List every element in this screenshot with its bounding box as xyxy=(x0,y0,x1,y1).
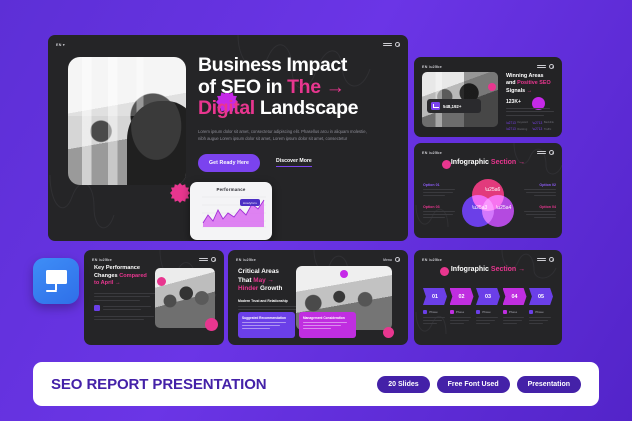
search-icon-winning[interactable] xyxy=(549,64,554,69)
step-info: Phase xyxy=(476,310,500,324)
check-icon: \u2713 xyxy=(533,121,543,125)
step-ribbon[interactable]: 04 xyxy=(503,288,527,305)
language-selector-winning[interactable]: EN \u25be xyxy=(422,65,442,69)
kpi-title: Key Performance Changes Compared to Apri… xyxy=(94,265,160,288)
grid-icon: \u25a6 xyxy=(485,187,500,193)
search-icon-venn[interactable] xyxy=(549,150,554,155)
hero-title: Business Impact of SEO in The → Digital … xyxy=(198,55,394,120)
steps-arrow-icon: → xyxy=(518,266,525,273)
step-ribbons: 01 02 03 04 05 xyxy=(423,288,553,305)
language-selector-kpi[interactable]: EN \u25be xyxy=(92,258,112,262)
critical-cards: Suggested Recommendation Management Cons… xyxy=(238,312,356,338)
step-info: Phase xyxy=(450,310,474,324)
language-selector-venn[interactable]: EN \u25be xyxy=(422,151,442,155)
winning-title: Winning Areas and Positive SEO Signals → xyxy=(506,73,556,95)
stat-value: 548,192+ xyxy=(443,104,461,109)
step-descriptions: Phase Phase Phase Phase Phase xyxy=(423,310,553,324)
hero-topbar: EN ▾ xyxy=(56,40,400,49)
check-icon: \u2713 xyxy=(506,127,516,131)
venn-arrow-icon: → xyxy=(518,159,525,166)
winning-arrow-icon: → xyxy=(527,88,532,94)
badge-type: Presentation xyxy=(517,376,581,393)
presentation-app-icon xyxy=(33,258,79,304)
magenta-dot-critical xyxy=(340,270,348,278)
steps-topbar: EN \u25be xyxy=(422,255,554,264)
kpi-bullet-row xyxy=(94,305,160,311)
pink-dot-steps xyxy=(440,267,449,276)
steps-title: Infographic Section → xyxy=(451,266,525,273)
hamburger-menu-icon-winning[interactable] xyxy=(537,65,546,68)
critical-card-2[interactable]: Management Consideration xyxy=(299,312,356,338)
kpi-slide[interactable]: EN \u25be Key Performance Changes Compar… xyxy=(84,250,224,345)
performance-card-title: Performance xyxy=(196,187,266,192)
venn-diagram: \u25a6 \u25a3 \u25a4 xyxy=(462,179,514,227)
badge-slides: 20 Slides xyxy=(377,376,429,393)
footer-bar: SEO REPORT PRESENTATION 20 Slides Free F… xyxy=(33,362,599,406)
check-item: \u2713Keyword xyxy=(506,121,530,125)
performance-card-pill: Analytics xyxy=(240,199,260,206)
step-ribbon[interactable]: 03 xyxy=(476,288,500,305)
check-item: \u2713Backlink xyxy=(533,121,557,125)
winning-checklist: \u2713Keyword \u2713Backlink \u2713Ranki… xyxy=(506,121,556,132)
critical-subtitle: Modern Trust and Relationship xyxy=(238,299,288,303)
pink-dot-critical xyxy=(383,327,394,338)
language-selector-critical[interactable]: EN \u25be xyxy=(236,258,256,262)
performance-card: Performance Analytics xyxy=(190,182,272,240)
winning-areas-slide[interactable]: EN \u25be 548,192+ Winning Areas and Pos… xyxy=(414,57,562,137)
check-icon: \u2713 xyxy=(533,127,543,131)
trend-up-icon xyxy=(431,102,440,110)
step-marker-icon xyxy=(529,310,533,314)
step-ribbon[interactable]: 01 xyxy=(423,288,447,305)
step-marker-icon xyxy=(423,310,427,314)
discover-more-link[interactable]: Discover More xyxy=(276,158,312,167)
hero-text-block: Business Impact of SEO in The → Digital … xyxy=(198,55,394,172)
language-selector-steps[interactable]: EN \u25be xyxy=(422,258,442,262)
starburst-decoration-2 xyxy=(170,183,190,203)
venn-option-01: Option 01 xyxy=(423,183,457,196)
pink-dot-decoration xyxy=(488,83,496,91)
check-icon: \u2713 xyxy=(506,121,516,125)
winning-big-number: 123K+ xyxy=(506,99,556,105)
infographic-steps-slide[interactable]: EN \u25be Infographic Section → 01 02 03… xyxy=(414,250,562,345)
badge-font: Free Font Used xyxy=(437,376,510,393)
step-ribbon[interactable]: 02 xyxy=(450,288,474,305)
stat-chip: 548,192+ xyxy=(427,99,481,113)
winning-topbar: EN \u25be xyxy=(422,62,554,71)
venn-topbar: EN \u25be xyxy=(422,148,554,157)
pink-dot-kpi-2 xyxy=(205,318,218,331)
kpi-arrow-icon: → xyxy=(115,280,121,286)
language-selector[interactable]: EN ▾ xyxy=(56,43,65,47)
step-marker-icon xyxy=(450,310,454,314)
performance-chart: Analytics xyxy=(196,195,266,231)
menu-label[interactable]: Menu xyxy=(383,258,392,262)
hero-photo xyxy=(68,57,186,185)
search-icon-critical[interactable] xyxy=(395,257,400,262)
step-info: Phase xyxy=(423,310,447,324)
seo-presentation-preview: { "background": { "gradient_from": "#5d2… xyxy=(0,0,632,421)
venn-option-04: Option 04 xyxy=(522,205,556,218)
kpi-text-block: Key Performance Changes Compared to Apri… xyxy=(94,265,160,320)
lock-icon: \u25a3 xyxy=(472,205,487,211)
check-item: \u2713Ranking xyxy=(506,127,530,131)
critical-areas-slide[interactable]: EN \u25be Menu Critical Areas That May →… xyxy=(228,250,408,345)
hero-paragraph: Lorem ipsum dolor sit amet, consectetur … xyxy=(198,128,368,143)
step-ribbon[interactable]: 05 xyxy=(529,288,553,305)
search-icon[interactable] xyxy=(395,42,400,47)
footer-title: SEO REPORT PRESENTATION xyxy=(51,376,267,393)
venn-option-03: Option 03 xyxy=(423,205,457,218)
venn-circle-right xyxy=(482,195,514,227)
infographic-venn-slide[interactable]: EN \u25be Infographic Section → Option 0… xyxy=(414,143,562,238)
critical-card-1[interactable]: Suggested Recommendation xyxy=(238,312,295,338)
search-icon-steps[interactable] xyxy=(549,257,554,262)
critical-topbar: EN \u25be Menu xyxy=(236,255,400,264)
winning-text-block: Winning Areas and Positive SEO Signals →… xyxy=(506,73,556,131)
bullet-square-icon xyxy=(94,305,100,311)
presentation-icon xyxy=(46,270,67,292)
hamburger-menu-icon-steps[interactable] xyxy=(537,258,546,261)
doc-icon: \u25a4 xyxy=(496,205,511,211)
footer-badges: 20 Slides Free Font Used Presentation xyxy=(377,376,581,393)
step-marker-icon xyxy=(476,310,480,314)
critical-arrow-icon: → xyxy=(267,277,273,284)
venn-title: Infographic Section → xyxy=(451,159,525,166)
hamburger-menu-icon-venn[interactable] xyxy=(537,151,546,154)
hero-slide[interactable]: EN ▾ Performance Analytics Business Im xyxy=(48,35,408,241)
search-icon-kpi[interactable] xyxy=(211,257,216,262)
step-info: Phase xyxy=(529,310,553,324)
get-ready-button[interactable]: Get Ready Here xyxy=(198,154,260,172)
pink-dot-venn xyxy=(442,160,451,169)
hamburger-menu-icon-kpi[interactable] xyxy=(199,258,208,261)
pink-dot-kpi xyxy=(157,277,166,286)
hero-title-arrow-icon: → xyxy=(326,76,345,98)
check-item: \u2713Traffic xyxy=(533,127,557,131)
hamburger-menu-icon[interactable] xyxy=(383,43,392,46)
kpi-topbar: EN \u25be xyxy=(92,255,216,264)
step-marker-icon xyxy=(503,310,507,314)
step-info: Phase xyxy=(503,310,527,324)
venn-option-02: Option 02 xyxy=(522,183,556,196)
